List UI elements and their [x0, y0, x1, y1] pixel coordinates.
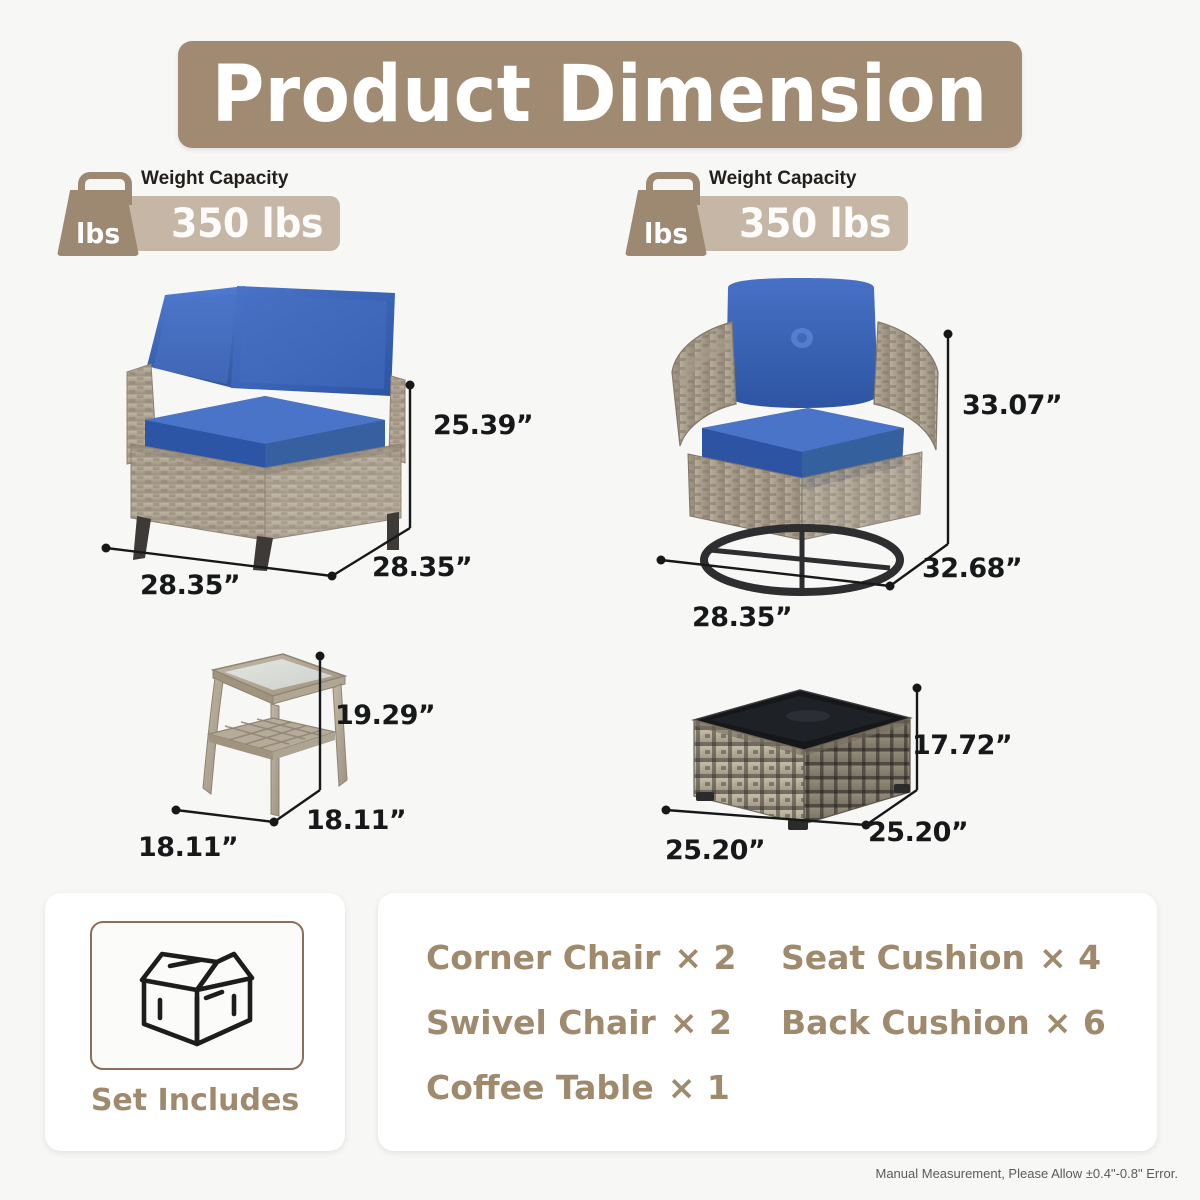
infographic-canvas: Product Dimension Weight Capacity 350 lb… — [0, 0, 1200, 1200]
item-qty: × 4 — [1039, 938, 1101, 977]
weight-capacity-bar: 350 lbs — [115, 196, 340, 251]
item-name: Back Cushion — [781, 1003, 1030, 1042]
set-includes-card: Set Includes — [45, 893, 345, 1151]
list-item: Seat Cushion× 4 — [781, 938, 1126, 977]
coffee-table-height-label: 17.72” — [912, 730, 1012, 761]
included-items-card: Corner Chair× 2 Seat Cushion× 4 Swivel C… — [378, 893, 1157, 1151]
weight-icon-unit: lbs — [76, 217, 120, 250]
weight-capacity-label: Weight Capacity — [709, 168, 856, 190]
weight-capacity-value: 350 lbs — [171, 201, 323, 247]
page-title-banner: Product Dimension — [178, 41, 1022, 148]
set-includes-label: Set Includes — [45, 1083, 345, 1118]
weight-capacity-label: Weight Capacity — [141, 168, 288, 190]
item-name: Swivel Chair — [426, 1003, 656, 1042]
weight-icon: lbs — [625, 190, 707, 256]
swivel-chair-depth-label: 32.68” — [922, 553, 1022, 584]
weight-capacity-value: 350 lbs — [739, 201, 891, 247]
item-qty: × 2 — [670, 1003, 732, 1042]
open-box-icon-frame — [90, 921, 304, 1070]
measurement-disclaimer: Manual Measurement, Please Allow ±0.4"-0… — [875, 1166, 1178, 1181]
item-qty: × 1 — [668, 1068, 730, 1107]
side-table-depth-label: 18.11” — [306, 805, 406, 836]
corner-chair-depth-label: 28.35” — [372, 552, 472, 583]
coffee-table-depth-label: 25.20” — [868, 817, 968, 848]
weight-capacity-badge-left: Weight Capacity 350 lbs lbs — [45, 168, 345, 260]
included-items-grid: Corner Chair× 2 Seat Cushion× 4 Swivel C… — [426, 925, 1126, 1120]
list-item: Coffee Table× 1 — [426, 1068, 781, 1107]
side-table-width-label: 18.11” — [138, 832, 238, 863]
coffee-table-width-label: 25.20” — [665, 835, 765, 866]
item-qty: × 2 — [674, 938, 736, 977]
list-item: Corner Chair× 2 — [426, 938, 781, 977]
side-table-height-label: 19.29” — [335, 700, 435, 731]
item-qty: × 6 — [1044, 1003, 1106, 1042]
item-name: Seat Cushion — [781, 938, 1025, 977]
corner-chair-width-label: 28.35” — [140, 570, 240, 601]
open-box-icon — [122, 940, 272, 1052]
corner-chair-height-label: 25.39” — [433, 410, 533, 441]
list-item: Back Cushion× 6 — [781, 1003, 1126, 1042]
list-item: Swivel Chair× 2 — [426, 1003, 781, 1042]
swivel-chair-height-label: 33.07” — [962, 390, 1062, 421]
weight-icon-unit: lbs — [644, 217, 688, 250]
swivel-chair-width-label: 28.35” — [692, 602, 792, 633]
item-name: Corner Chair — [426, 938, 660, 977]
weight-icon: lbs — [57, 190, 139, 256]
weight-capacity-bar: 350 lbs — [683, 196, 908, 251]
page-title: Product Dimension — [212, 56, 988, 134]
weight-capacity-badge-right: Weight Capacity 350 lbs lbs — [613, 168, 913, 260]
item-name: Coffee Table — [426, 1068, 654, 1107]
